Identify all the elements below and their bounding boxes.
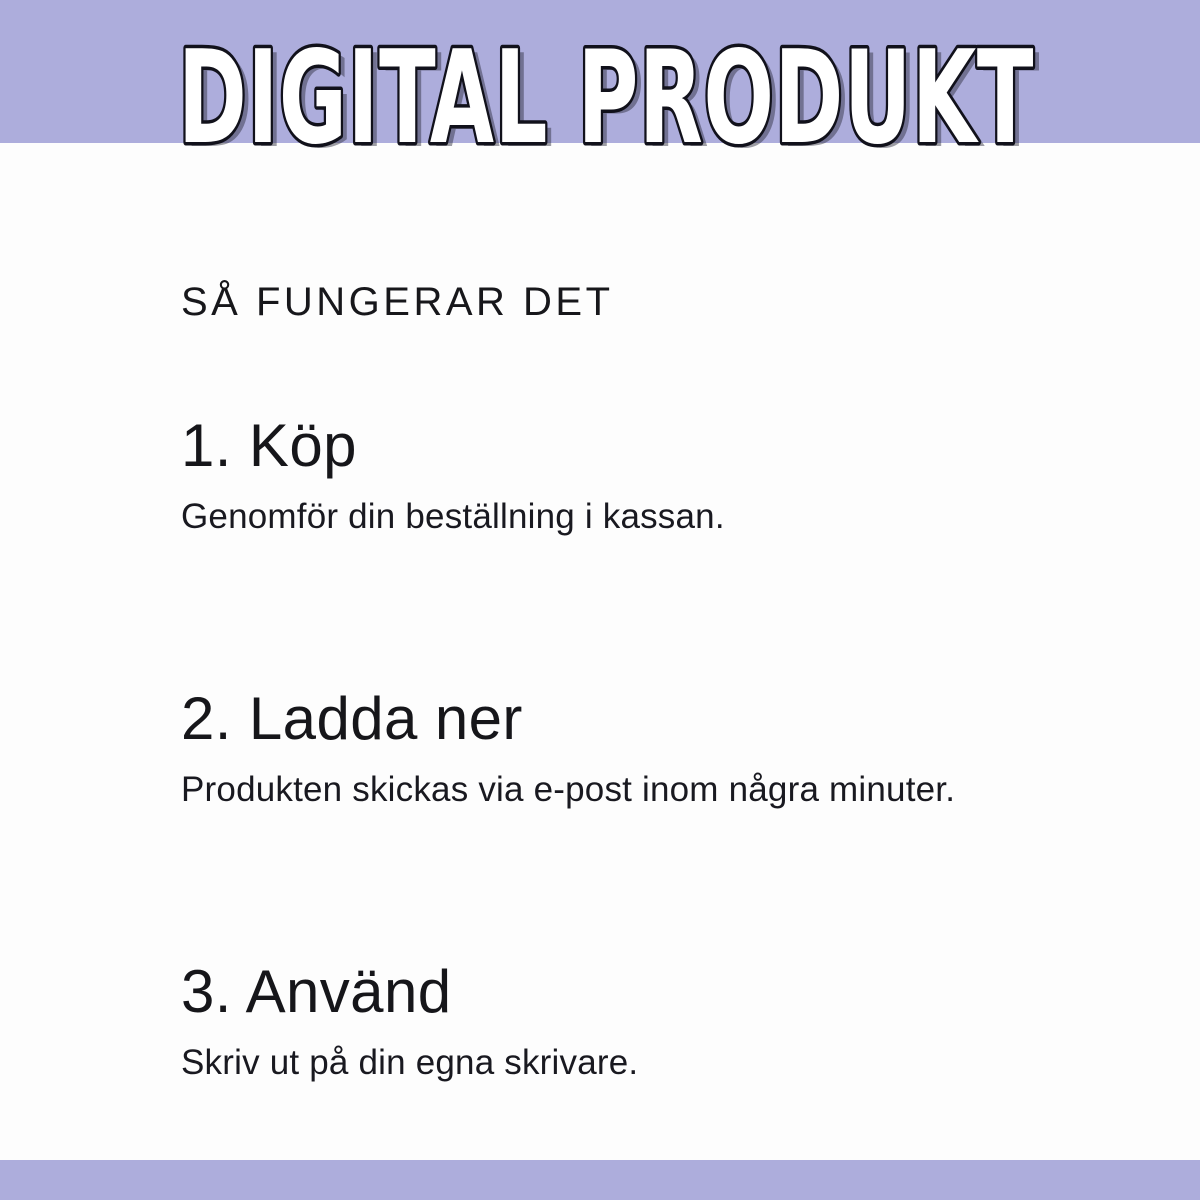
step-title-2: 2. Ladda ner [181,687,1081,750]
list-item: 2. Ladda ner Produkten skickas via e-pos… [181,687,1081,812]
list-item: 1. Köp Genomför din beställning i kassan… [181,414,1081,539]
step-description-2: Produkten skickas via e-post inom några … [181,768,1081,812]
bottom-accent-band [0,1160,1200,1200]
steps-section: SÅ FUNGERAR DET 1. Köp Genomför din best… [181,282,1081,1084]
headline-title-text: DIGITAL PRODUKT [178,24,1034,173]
step-title-1: 1. Köp [181,414,1081,477]
step-description-1: Genomför din beställning i kassan. [181,495,1081,539]
step-title-3: 3. Använd [181,960,1081,1023]
steps-list: 1. Köp Genomför din beställning i kassan… [181,414,1081,1084]
step-description-3: Skriv ut på din egna skrivare. [181,1041,1081,1085]
section-eyebrow: SÅ FUNGERAR DET [181,282,1081,322]
list-item: 3. Använd Skriv ut på din egna skrivare. [181,960,1081,1085]
headline-banner: DIGITAL PRODUKT DIGITAL PRODUKT [178,22,1038,162]
product-info-card: DIGITAL PRODUKT DIGITAL PRODUKT SÅ FUNGE… [0,0,1200,1200]
headline-artwork: DIGITAL PRODUKT DIGITAL PRODUKT [178,22,1038,162]
